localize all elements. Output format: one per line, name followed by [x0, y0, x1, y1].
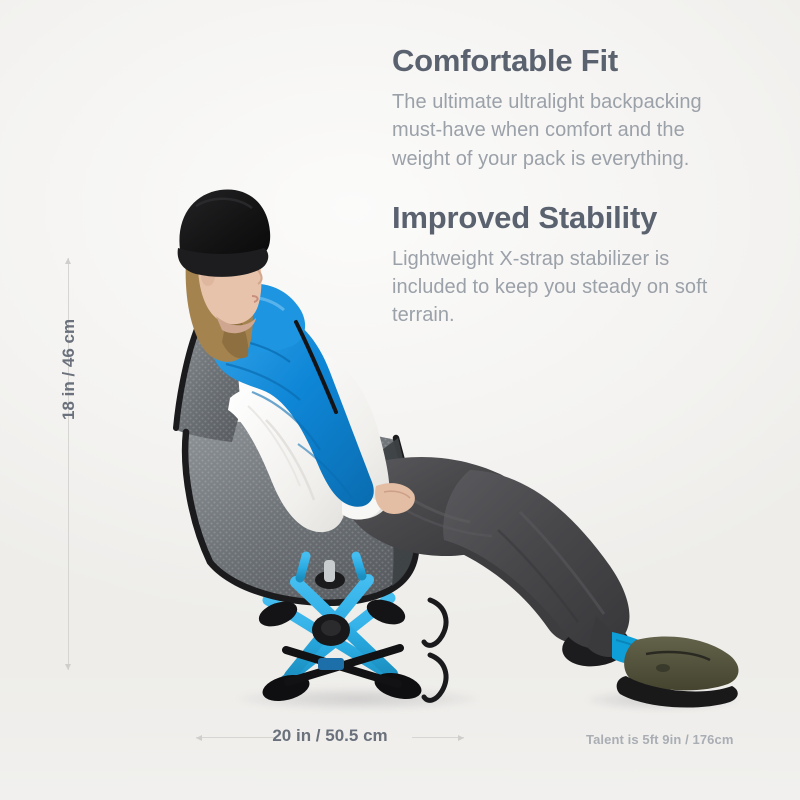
height-dimension-label: 18 in / 46 cm — [59, 380, 79, 420]
feature-block-comfortable-fit: Comfortable Fit The ultimate ultralight … — [392, 44, 744, 173]
chair-pull-loops — [424, 600, 446, 700]
feature-copy-panel: Comfortable Fit The ultimate ultralight … — [392, 44, 744, 330]
width-dimension-label: 20 in / 50.5 cm — [196, 726, 464, 746]
feature-heading-2: Improved Stability — [392, 201, 744, 236]
feature-heading-1: Comfortable Fit — [392, 44, 744, 79]
feature-block-improved-stability: Improved Stability Lightweight X-strap s… — [392, 201, 744, 330]
feature-body-2: Lightweight X-strap stabilizer is includ… — [392, 245, 744, 330]
height-arrow-bottom-icon — [65, 664, 71, 670]
model-shoe — [617, 636, 739, 707]
talent-caption: Talent is 5ft 9in / 176cm — [586, 732, 733, 747]
height-arrow-top-icon — [65, 258, 71, 264]
product-marketing-image: 18 in / 46 cm 20 in / 50.5 cm Talent is … — [0, 0, 800, 800]
feature-body-1: The ultimate ultralight backpacking must… — [392, 88, 744, 173]
